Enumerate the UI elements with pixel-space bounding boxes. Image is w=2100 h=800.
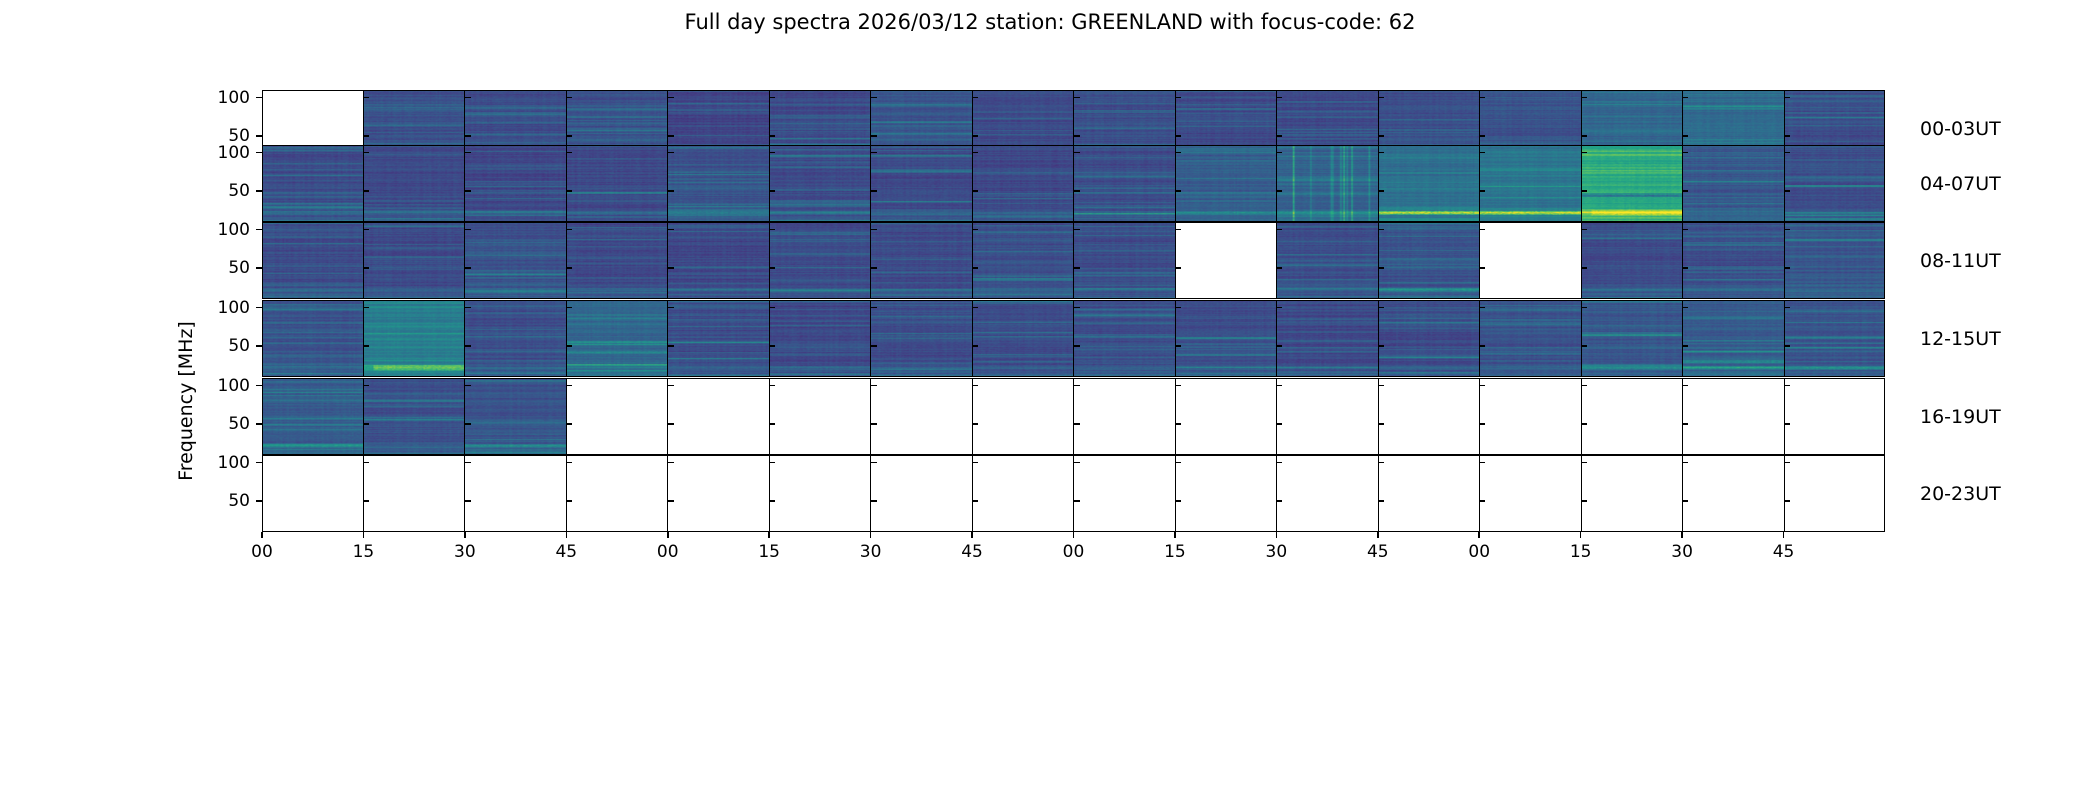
y-tick-label: 100	[218, 453, 250, 473]
y-tick-mark-inner	[1784, 307, 1790, 309]
y-tick-mark-inner	[566, 385, 572, 387]
spectrogram-segment	[1479, 222, 1581, 299]
spectrogram-segment	[1073, 455, 1175, 532]
y-tick-mark-inner	[465, 462, 471, 464]
y-tick-mark-inner	[363, 267, 369, 269]
y-tick-label: 100	[218, 220, 250, 240]
y-tick-mark-inner	[465, 423, 471, 425]
y-tick-mark-inner	[769, 462, 775, 464]
x-tick-label: 15	[758, 542, 780, 562]
y-tick-mark-inner	[1479, 267, 1485, 269]
y-tick-mark	[256, 462, 262, 464]
spectrogram-image	[567, 300, 668, 377]
y-tick-mark-inner	[668, 385, 674, 387]
y-tick-mark	[256, 97, 262, 99]
y-tick-mark-inner	[1581, 97, 1587, 99]
y-tick-mark-inner	[871, 152, 877, 154]
spectrogram-segment	[566, 455, 668, 532]
y-tick-mark-inner	[1175, 423, 1181, 425]
y-tick-mark-inner	[1479, 307, 1485, 309]
spectrogram-segment	[262, 455, 363, 532]
spectrogram-row-20-23	[262, 455, 1885, 532]
spectrogram-segment	[1682, 300, 1784, 377]
y-tick-mark-inner	[363, 229, 369, 231]
spectrogram-segment	[1581, 455, 1683, 532]
spectrogram-segment	[262, 222, 363, 299]
y-tick-mark-inner	[1682, 135, 1688, 137]
spectrogram-segment	[667, 378, 769, 455]
spectrogram-segment	[1479, 455, 1581, 532]
y-tick-mark-inner	[566, 135, 572, 137]
spectrogram-segment	[1682, 145, 1784, 222]
y-tick-label: 50	[228, 336, 250, 356]
y-tick-mark-inner	[871, 267, 877, 269]
x-tick-mark	[566, 532, 568, 538]
spectrogram-image	[1176, 300, 1277, 377]
spectrogram-segment	[464, 300, 566, 377]
y-tick-mark-inner	[1682, 152, 1688, 154]
y-tick-mark-inner	[1175, 152, 1181, 154]
x-tick-mark	[768, 532, 770, 538]
y-tick-mark-inner	[972, 229, 978, 231]
spectrogram-segment	[1276, 378, 1378, 455]
y-tick-mark-inner	[871, 385, 877, 387]
y-axis-label: Frequency [MHz]	[175, 321, 197, 481]
y-tick-mark-inner	[871, 97, 877, 99]
y-tick-mark-inner	[769, 229, 775, 231]
y-tick-mark-inner	[1682, 267, 1688, 269]
spectrogram-segment	[464, 145, 566, 222]
y-tick-mark-inner	[363, 190, 369, 192]
spectrogram-segment	[262, 300, 363, 377]
x-tick-label: 30	[1671, 542, 1693, 562]
y-tick-mark-inner	[566, 229, 572, 231]
y-tick-mark-inner	[1074, 423, 1080, 425]
spectrogram-segment	[1175, 300, 1277, 377]
y-tick-mark	[256, 267, 262, 269]
spectrogram-segment	[1784, 145, 1886, 222]
page-title: Full day spectra 2026/03/12 station: GRE…	[0, 10, 2100, 34]
spectrogram-row-12-15	[262, 300, 1885, 377]
y-tick-mark-inner	[363, 423, 369, 425]
y-tick-mark-inner	[1276, 423, 1282, 425]
y-tick-mark-inner	[972, 307, 978, 309]
y-tick-mark-inner	[1378, 462, 1384, 464]
spectrogram-segment	[1378, 300, 1480, 377]
y-tick-mark-inner	[566, 423, 572, 425]
y-tick-mark-inner	[769, 423, 775, 425]
spectrogram-image	[1683, 222, 1784, 299]
y-tick-mark	[256, 385, 262, 387]
spectrogram-segment	[566, 378, 668, 455]
y-tick-label: 50	[228, 491, 250, 511]
spectrogram-image	[1683, 300, 1784, 377]
y-tick-mark-inner	[1175, 97, 1181, 99]
y-tick-mark-inner	[1682, 423, 1688, 425]
spectrogram-image	[1582, 145, 1683, 222]
y-tick-mark-inner	[871, 462, 877, 464]
y-tick-mark-inner	[1581, 345, 1587, 347]
spectrogram-image	[668, 222, 769, 299]
spectrogram-segment	[667, 145, 769, 222]
spectrogram-segment	[566, 222, 668, 299]
spectrogram-segment	[363, 455, 465, 532]
spectrogram-segment	[1479, 145, 1581, 222]
y-tick-mark-inner	[1479, 462, 1485, 464]
spectrogram-image	[1683, 145, 1784, 222]
y-tick-mark-inner	[1378, 152, 1384, 154]
y-tick-mark-inner	[1682, 229, 1688, 231]
y-tick-label: 50	[228, 258, 250, 278]
y-tick-mark-inner	[769, 190, 775, 192]
y-tick-mark-inner	[1378, 307, 1384, 309]
y-tick-mark-inner	[1581, 267, 1587, 269]
spectrogram-segment	[769, 378, 871, 455]
spectrogram-segment	[1479, 378, 1581, 455]
spectrogram-row-04-07	[262, 145, 1885, 222]
y-tick-mark-inner	[1378, 229, 1384, 231]
spectrogram-row-16-19	[262, 378, 1885, 455]
y-tick-mark-inner	[1276, 500, 1282, 502]
spectrogram-segment	[1276, 300, 1378, 377]
spectrogram-image	[567, 222, 668, 299]
spectrogram-segment	[667, 300, 769, 377]
spectrogram-segment	[972, 378, 1074, 455]
y-tick-mark-inner	[1378, 190, 1384, 192]
spectrogram-segment	[1175, 455, 1277, 532]
spectrogram-segment	[1378, 378, 1480, 455]
spectrogram-image	[465, 222, 566, 299]
y-tick-label: 100	[218, 143, 250, 163]
spectrogram-image	[262, 145, 363, 222]
spectrogram-image	[1785, 145, 1886, 222]
y-tick-mark-inner	[972, 97, 978, 99]
x-tick-label: 15	[1164, 542, 1186, 562]
x-tick-mark	[1580, 532, 1582, 538]
spectrogram-image	[871, 222, 972, 299]
y-tick-mark-inner	[1784, 152, 1790, 154]
spectrogram-segment	[566, 300, 668, 377]
y-tick-mark-inner	[668, 345, 674, 347]
y-tick-mark-inner	[1276, 385, 1282, 387]
spectrogram-image	[465, 145, 566, 222]
spectrogram-segment	[1073, 300, 1175, 377]
spectrogram-segment	[972, 300, 1074, 377]
y-tick-mark-inner	[566, 500, 572, 502]
y-tick-mark-inner	[566, 345, 572, 347]
y-tick-mark-inner	[1479, 135, 1485, 137]
spectrogram-image	[668, 145, 769, 222]
y-tick-mark-inner	[465, 152, 471, 154]
y-tick-mark-inner	[363, 462, 369, 464]
spectrogram-segment	[262, 145, 363, 222]
y-tick-mark-inner	[1378, 500, 1384, 502]
y-tick-mark-inner	[566, 267, 572, 269]
y-tick-mark-inner	[1276, 229, 1282, 231]
spectrogram-image	[465, 378, 566, 455]
x-tick-label: 30	[1266, 542, 1288, 562]
y-tick-mark	[256, 190, 262, 192]
y-tick-mark-inner	[1581, 423, 1587, 425]
y-tick-mark-inner	[1581, 500, 1587, 502]
y-tick-mark-inner	[1276, 307, 1282, 309]
spectrogram-image	[364, 222, 465, 299]
y-tick-mark-inner	[1479, 97, 1485, 99]
y-tick-mark-inner	[1074, 307, 1080, 309]
y-tick-mark-inner	[1175, 229, 1181, 231]
y-tick-mark-inner	[1479, 229, 1485, 231]
x-tick-mark	[1174, 532, 1176, 538]
spectrogram-segment	[1175, 378, 1277, 455]
y-tick-mark-inner	[1276, 152, 1282, 154]
x-tick-label: 45	[555, 542, 577, 562]
x-tick-label: 00	[251, 542, 273, 562]
y-tick-mark-inner	[1378, 97, 1384, 99]
y-tick-mark-inner	[363, 152, 369, 154]
y-tick-mark-inner	[363, 135, 369, 137]
y-tick-mark-inner	[1276, 462, 1282, 464]
spectrogram-segment	[1276, 222, 1378, 299]
y-tick-mark-inner	[1784, 135, 1790, 137]
y-tick-mark-inner	[668, 229, 674, 231]
spectrogram-segment	[1479, 300, 1581, 377]
spectrogram-image	[364, 300, 465, 377]
y-tick-mark-inner	[668, 190, 674, 192]
row-label-08-11: 08-11UT	[1920, 250, 2001, 272]
spectrogram-image	[668, 300, 769, 377]
y-tick-mark-inner	[1682, 190, 1688, 192]
y-tick-mark-inner	[668, 423, 674, 425]
spectrogram-segment	[464, 378, 566, 455]
y-tick-label: 100	[218, 376, 250, 396]
x-tick-mark	[971, 532, 973, 538]
y-tick-mark-inner	[1581, 190, 1587, 192]
y-tick-mark	[256, 500, 262, 502]
x-tick-mark	[667, 532, 669, 538]
x-tick-label: 15	[1570, 542, 1592, 562]
y-tick-mark-inner	[972, 152, 978, 154]
y-tick-mark-inner	[363, 385, 369, 387]
y-tick-mark-inner	[1784, 500, 1790, 502]
spectrogram-segment	[464, 455, 566, 532]
x-tick-label: 00	[1063, 542, 1085, 562]
y-tick-mark-inner	[972, 267, 978, 269]
spectrogram-segment	[870, 378, 972, 455]
spectrogram-image	[1582, 222, 1683, 299]
y-tick-mark-inner	[668, 97, 674, 99]
y-tick-mark-inner	[1378, 423, 1384, 425]
y-tick-mark-inner	[1074, 462, 1080, 464]
y-tick-mark-inner	[1074, 229, 1080, 231]
x-tick-label: 45	[961, 542, 983, 562]
y-tick-mark-inner	[465, 229, 471, 231]
y-tick-mark-inner	[1784, 345, 1790, 347]
spectrogram-segment	[363, 145, 465, 222]
y-tick-mark-inner	[1682, 385, 1688, 387]
x-tick-label: 15	[353, 542, 375, 562]
y-tick-mark-inner	[1784, 97, 1790, 99]
y-tick-mark-inner	[1581, 229, 1587, 231]
spectrogram-segment	[667, 222, 769, 299]
y-tick-mark-inner	[1074, 267, 1080, 269]
y-tick-mark-inner	[1074, 97, 1080, 99]
y-tick-mark-inner	[871, 190, 877, 192]
y-tick-mark-inner	[769, 307, 775, 309]
y-tick-mark-inner	[1175, 135, 1181, 137]
y-tick-mark-inner	[769, 385, 775, 387]
x-tick-mark	[261, 532, 263, 538]
y-tick-mark-inner	[566, 307, 572, 309]
y-tick-mark-inner	[1581, 152, 1587, 154]
y-tick-mark-inner	[871, 345, 877, 347]
y-tick-mark-inner	[1276, 97, 1282, 99]
y-tick-mark-inner	[465, 307, 471, 309]
y-tick-mark	[256, 135, 262, 137]
y-tick-mark-inner	[1074, 152, 1080, 154]
y-tick-mark-inner	[1175, 307, 1181, 309]
y-tick-mark-inner	[1074, 500, 1080, 502]
spectrogram-segment	[464, 222, 566, 299]
y-tick-mark-inner	[465, 500, 471, 502]
spectrogram-segment	[1073, 145, 1175, 222]
spectrogram-segment	[1581, 300, 1683, 377]
spectrogram-image	[973, 145, 1074, 222]
spectrogram-segment	[667, 455, 769, 532]
spectrogram-segment	[870, 455, 972, 532]
spectrogram-row-08-11	[262, 222, 1885, 299]
x-tick-label: 45	[1367, 542, 1389, 562]
spectrogram-segment	[870, 300, 972, 377]
y-tick-mark-inner	[972, 385, 978, 387]
y-tick-mark-inner	[465, 345, 471, 347]
spectrogram-segment	[1581, 378, 1683, 455]
spectrogram-segment	[1682, 455, 1784, 532]
y-tick-mark-inner	[363, 97, 369, 99]
spectrogram-segment	[1276, 145, 1378, 222]
spectrogram-image	[364, 378, 465, 455]
spectrogram-segment	[1378, 455, 1480, 532]
y-tick-mark-inner	[769, 152, 775, 154]
x-tick-mark	[1073, 532, 1075, 538]
y-tick-mark-inner	[1784, 423, 1790, 425]
x-tick-mark	[1377, 532, 1379, 538]
y-tick-mark-inner	[769, 500, 775, 502]
x-tick-label: 30	[454, 542, 476, 562]
x-tick-mark	[1783, 532, 1785, 538]
spectrogram-image	[1379, 222, 1480, 299]
x-tick-label: 00	[657, 542, 679, 562]
y-tick-mark-inner	[1175, 345, 1181, 347]
spectrogram-image	[262, 300, 363, 377]
y-tick-mark-inner	[769, 135, 775, 137]
y-tick-mark	[256, 423, 262, 425]
x-tick-mark	[1276, 532, 1278, 538]
spectrogram-segment	[1784, 455, 1886, 532]
y-tick-mark	[256, 307, 262, 309]
y-tick-mark-inner	[1378, 385, 1384, 387]
spectrogram-segment	[1378, 145, 1480, 222]
spectrogram-image	[262, 222, 363, 299]
y-tick-mark-inner	[1581, 462, 1587, 464]
y-tick-mark-inner	[1682, 97, 1688, 99]
spectrogram-image	[567, 145, 668, 222]
spectrogram-segment	[262, 378, 363, 455]
y-tick-mark-inner	[363, 307, 369, 309]
x-tick-label: 30	[860, 542, 882, 562]
y-tick-mark-inner	[566, 97, 572, 99]
y-tick-label: 50	[228, 181, 250, 201]
y-tick-mark-inner	[1074, 385, 1080, 387]
y-tick-mark-inner	[668, 500, 674, 502]
y-tick-mark-inner	[1581, 135, 1587, 137]
y-tick-mark-inner	[1074, 190, 1080, 192]
y-tick-mark-inner	[1784, 190, 1790, 192]
spectrogram-image	[1074, 222, 1175, 299]
y-tick-mark	[256, 229, 262, 231]
y-tick-mark-inner	[1378, 345, 1384, 347]
spectrogram-segment	[1581, 145, 1683, 222]
spectrogram-segment	[972, 455, 1074, 532]
y-tick-mark-inner	[1175, 462, 1181, 464]
row-label-00-03: 00-03UT	[1920, 118, 2001, 140]
y-tick-mark-inner	[1276, 190, 1282, 192]
spectrogram-image	[1277, 222, 1378, 299]
spectrogram-segment	[870, 145, 972, 222]
y-tick-mark	[256, 152, 262, 154]
spectrogram-image	[1480, 145, 1581, 222]
y-tick-mark-inner	[1276, 135, 1282, 137]
spectrogram-segment	[363, 300, 465, 377]
y-tick-label: 50	[228, 414, 250, 434]
y-tick-mark-inner	[1074, 345, 1080, 347]
spectrogram-segment	[1073, 222, 1175, 299]
spectrogram-image	[1176, 145, 1277, 222]
y-tick-mark-inner	[566, 190, 572, 192]
x-tick-mark	[870, 532, 872, 538]
spectrogram-image	[1277, 145, 1378, 222]
spectrogram-figure: Full day spectra 2026/03/12 station: GRE…	[0, 0, 2100, 800]
y-tick-mark-inner	[1784, 385, 1790, 387]
spectrogram-image	[973, 222, 1074, 299]
spectrogram-segment	[769, 300, 871, 377]
y-tick-mark-inner	[566, 152, 572, 154]
y-tick-mark-inner	[1682, 307, 1688, 309]
y-tick-mark-inner	[972, 190, 978, 192]
y-tick-mark-inner	[972, 135, 978, 137]
spectrogram-image	[1785, 300, 1886, 377]
y-tick-mark-inner	[871, 135, 877, 137]
y-tick-mark-inner	[1378, 267, 1384, 269]
row-label-12-15: 12-15UT	[1920, 328, 2001, 350]
y-tick-mark-inner	[972, 345, 978, 347]
spectrogram-segment	[870, 222, 972, 299]
spectrogram-image	[1074, 145, 1175, 222]
y-tick-mark-inner	[1581, 385, 1587, 387]
x-tick-mark	[363, 532, 365, 538]
x-tick-mark	[1681, 532, 1683, 538]
spectrogram-image	[1582, 300, 1683, 377]
y-tick-mark-inner	[1378, 135, 1384, 137]
y-tick-mark-inner	[465, 385, 471, 387]
spectrogram-image	[1480, 300, 1581, 377]
y-tick-mark-inner	[871, 307, 877, 309]
spectrogram-segment	[1175, 222, 1277, 299]
y-tick-mark-inner	[465, 135, 471, 137]
y-tick-mark-inner	[1479, 500, 1485, 502]
x-tick-label: 45	[1773, 542, 1795, 562]
y-tick-mark-inner	[1784, 229, 1790, 231]
spectrogram-image	[871, 145, 972, 222]
